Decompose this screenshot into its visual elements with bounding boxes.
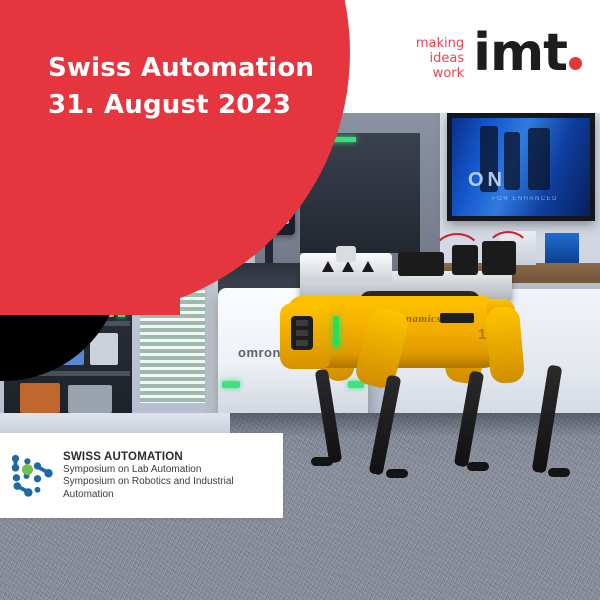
payload-marker-icon bbox=[342, 261, 354, 272]
network-node-highlight bbox=[22, 464, 33, 475]
imt-tagline-line-3: work bbox=[416, 66, 464, 81]
imt-tagline: making ideas work bbox=[416, 36, 464, 81]
payload-red-cable bbox=[432, 233, 482, 277]
spot-leg-lower-rear-left bbox=[532, 365, 563, 474]
imt-tagline-line-1: making bbox=[416, 36, 464, 51]
spot-leg-lower-front-right bbox=[315, 369, 343, 464]
imt-wordmark: imt bbox=[473, 27, 582, 79]
spot-leg-upper-rear-left bbox=[485, 306, 525, 385]
spot-leg-lower-front-left bbox=[369, 375, 402, 476]
payload-sensor bbox=[336, 246, 356, 262]
payload-marker-icon bbox=[362, 261, 374, 272]
swiss-automation-title: SWISS AUTOMATION bbox=[63, 450, 283, 464]
spot-head-vents bbox=[291, 316, 313, 350]
spot-side-vent bbox=[440, 313, 474, 323]
spot-foot-rear-left bbox=[548, 468, 570, 477]
headline-line-1: Swiss Automation bbox=[48, 50, 314, 87]
swiss-automation-subtitle-2: Symposium on Robotics and Industrial Aut… bbox=[63, 476, 283, 500]
swiss-automation-subtitle-1: Symposium on Lab Automation bbox=[63, 464, 283, 476]
imt-dot-icon bbox=[569, 57, 582, 70]
headline-line-2: 31. August 2023 bbox=[48, 87, 314, 124]
spot-status-led bbox=[333, 316, 339, 348]
page-title: Swiss Automation 31. August 2023 bbox=[48, 50, 314, 124]
swiss-automation-logo: SWISS AUTOMATION Symposium on Lab Automa… bbox=[0, 433, 283, 518]
payload-marker-icon bbox=[322, 261, 334, 272]
imt-wordmark-text: imt bbox=[473, 23, 567, 83]
payload-red-cable bbox=[486, 231, 530, 271]
swiss-automation-text: SWISS AUTOMATION Symposium on Lab Automa… bbox=[63, 450, 283, 501]
network-nodes-icon bbox=[10, 453, 54, 499]
spot-foot-front-right bbox=[311, 457, 333, 466]
spot-foot-rear-right bbox=[467, 462, 489, 471]
spot-foot-front-left bbox=[386, 469, 408, 478]
event-poster: omron ON FOR ENHANCED bbox=[0, 0, 600, 600]
spot-leg-lower-rear-right bbox=[454, 371, 484, 468]
imt-logo: making ideas work imt bbox=[416, 27, 582, 81]
imt-tagline-line-2: ideas bbox=[416, 51, 464, 66]
